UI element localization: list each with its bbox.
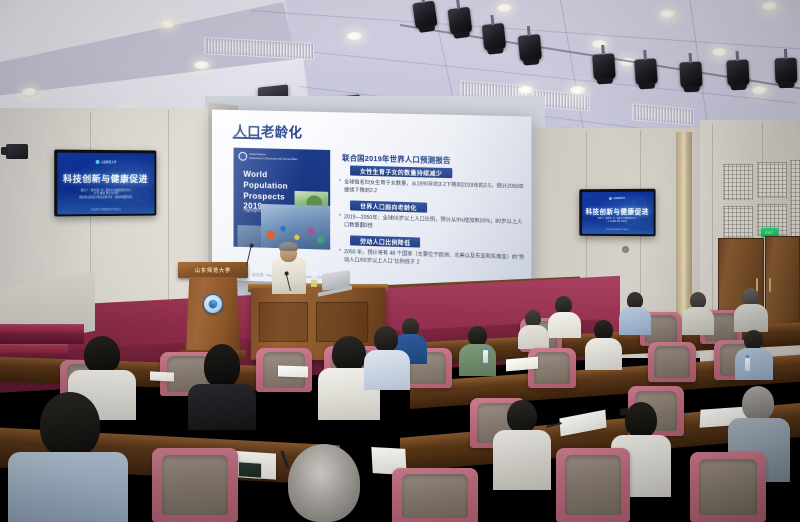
downlight [194, 61, 210, 70]
person-torso [493, 430, 551, 490]
speaker-laptop [322, 270, 350, 290]
seat-cushion [699, 459, 757, 515]
lectern-body [186, 277, 240, 352]
person-torso [619, 307, 651, 335]
monitor-right-meta: 报告人：教育部 / 中 · 国家公共健康研究中心 主 任 教授 博士生导师 [582, 217, 653, 223]
meta-line-1: 教育部 / 中 · 国家公共健康研究中心 [606, 217, 637, 219]
monitor-left-title: 科技创新与健康促进 [57, 171, 154, 184]
downlight [762, 2, 778, 11]
stage-spotlight [592, 53, 616, 80]
stage-spotlight [518, 34, 542, 62]
stage-spotlight [447, 7, 472, 35]
wall-monitor-right: 山东师范大学 科技创新与健康促进 报告人：教育部 / 中 · 国家公共健康研究中… [579, 189, 655, 237]
downlight [497, 4, 513, 13]
presentation-slide: 人口老龄化 United Nations Department of Econo… [212, 110, 531, 291]
monitor-left-meta: 报告人：教育部 / 中 · 国家公共健康研究中心 主 任 教授 博士生导师 国家… [57, 188, 154, 200]
wall-speaker [622, 246, 629, 253]
lectern-university-name: 山东师范大学 [195, 267, 231, 274]
stage-step [0, 344, 68, 353]
downlight [160, 20, 176, 29]
stage-spotlight [634, 58, 658, 85]
person-head [744, 330, 763, 350]
university-emblem [203, 294, 223, 314]
person-head [288, 444, 360, 522]
person-head [468, 326, 487, 346]
downlight [660, 10, 676, 19]
downlight [570, 86, 586, 95]
downlight [347, 32, 363, 41]
monitor-right-logo: 山东师范大学 [609, 196, 625, 199]
ceiling-camera [6, 144, 28, 159]
stage-spotlight [775, 58, 798, 85]
seat-cushion [534, 352, 570, 384]
monitor-right-footer: 科技创新与健康促进学术报告会 [582, 228, 653, 230]
monitor-left-footer: 科技创新与健康促进学术报告会 [57, 206, 154, 211]
downlight [22, 88, 38, 97]
monitor-right-title: 科技创新与健康促进 [582, 205, 653, 215]
wall-seam [168, 110, 169, 320]
meta-label: 报告人： [81, 189, 91, 192]
un-globe-icon [238, 152, 247, 161]
person-torso [188, 384, 256, 430]
desk-panel [316, 302, 368, 342]
slide-bullet-3: 2050 年，预计将有 48 个国家（主要位于欧洲、北美以及东亚和东南亚）的“劳… [344, 248, 525, 270]
person-head [374, 326, 398, 352]
stage-step [0, 324, 84, 333]
slide-bullet-1: 全球每名妇女生育子女数量，从1990年的3.2下降到2019年的2.5，预计20… [344, 178, 525, 199]
slide-section-band-2: 世界人口趋向老龄化 [350, 200, 427, 212]
auditorium-seat[interactable] [648, 342, 696, 382]
un-dept-label: Department of Economic and Social Affair… [249, 156, 298, 160]
person-torso [548, 312, 581, 338]
person-torso [585, 338, 622, 370]
stage-spotlight [482, 23, 507, 51]
stage-spotlight [412, 1, 437, 30]
wall-monitor-left: 山东师范大学 科技创新与健康促进 报告人：教育部 / 中 · 国家公共健康研究中… [54, 150, 156, 217]
report-cover-subtitle: Highlights [243, 207, 261, 212]
exit-sign-label: EXIT [765, 231, 774, 235]
lecture-hall-photo: EXIT 人口老龄化 United Nations Department of … [0, 0, 800, 522]
auditorium-seat[interactable] [690, 452, 766, 522]
person-torso [734, 304, 768, 332]
person-head [742, 386, 774, 421]
stage-spotlight [726, 59, 749, 86]
person-torso [364, 350, 410, 390]
desk-panel [259, 302, 308, 342]
monitor-logo-text: 山东师范大学 [101, 159, 116, 163]
seat-cushion [654, 346, 690, 378]
logo-mark-icon [609, 197, 612, 200]
auditorium-seat[interactable] [152, 448, 238, 522]
person-torso [8, 452, 128, 522]
downlight [518, 86, 534, 95]
monitor-right-screen: 山东师范大学 科技创新与健康促进 报告人：教育部 / 中 · 国家公共健康研究中… [582, 191, 653, 233]
stage-spotlight [679, 61, 702, 88]
downlight [712, 48, 728, 57]
person-torso [682, 307, 714, 335]
projection-screen: 人口老龄化 United Nations Department of Econo… [212, 110, 531, 291]
auditorium-seat[interactable] [392, 468, 478, 522]
drinking-glass [311, 272, 317, 287]
person-torso [735, 348, 773, 380]
auditorium-seat[interactable] [556, 448, 630, 522]
person-head [625, 402, 657, 438]
cover-line-2: Population [243, 180, 288, 192]
acoustic-panel [723, 164, 753, 200]
seat-cushion [565, 455, 621, 514]
door-handle[interactable] [769, 278, 771, 292]
downlight [752, 86, 768, 95]
band-label-1: 女性生育子女的数量持续减少 [360, 166, 442, 177]
person-head [594, 320, 613, 340]
slide-section-band-3: 劳动人口比例降低 [350, 235, 420, 247]
handout-papers [278, 365, 308, 377]
monitor-logo-text: 山东师范大学 [613, 196, 625, 199]
person-head [507, 400, 537, 433]
person-head [84, 336, 120, 374]
lectern-top: 山东师范大学 [178, 262, 248, 278]
stage-step-riser [0, 333, 84, 344]
logo-mark-icon [96, 159, 100, 163]
person-head [332, 336, 366, 372]
water-bottle [483, 350, 488, 363]
report-cover-image: United Nations Department of Economic an… [234, 148, 331, 250]
acoustic-panel [790, 160, 800, 238]
slide-bullet-2: 2019—2050年：全球65岁以上人口比例，预计从9%增加到16%；80岁以上… [344, 213, 525, 235]
monitor-left-logo: 山东师范大学 [96, 159, 117, 163]
meta-line-2: 主 任 教授 博士生导师 [582, 220, 653, 223]
band-label-2: 世界人口趋向老龄化 [360, 201, 417, 212]
person-head [204, 344, 240, 388]
slide-heading: 联合国2019年世界人口预测报告 [342, 152, 451, 166]
un-logo: United Nations Department of Economic an… [238, 152, 297, 162]
handout-papers [150, 371, 174, 381]
person-torso [518, 325, 549, 349]
seat-cushion [402, 474, 467, 519]
band-label-3: 劳动人口比例降低 [360, 236, 410, 247]
monitor-left-screen: 山东师范大学 科技创新与健康促进 报告人：教育部 / 中 · 国家公共健康研究中… [57, 152, 154, 214]
meta-line-3: 国家重点研发计划首席科学家 · 健康中国研究院 [57, 196, 154, 200]
water-bottle [745, 358, 750, 371]
acoustic-panel [723, 206, 753, 238]
person-torso [459, 344, 496, 376]
seat-cushion [162, 455, 227, 514]
downlight [592, 40, 608, 49]
tablet-device[interactable] [238, 461, 262, 479]
person-head [40, 392, 100, 458]
acoustic-panel [757, 162, 787, 198]
speaker-person-hair [279, 242, 298, 251]
slide-section-band-1: 女性生育子女的数量持续减少 [350, 165, 452, 178]
